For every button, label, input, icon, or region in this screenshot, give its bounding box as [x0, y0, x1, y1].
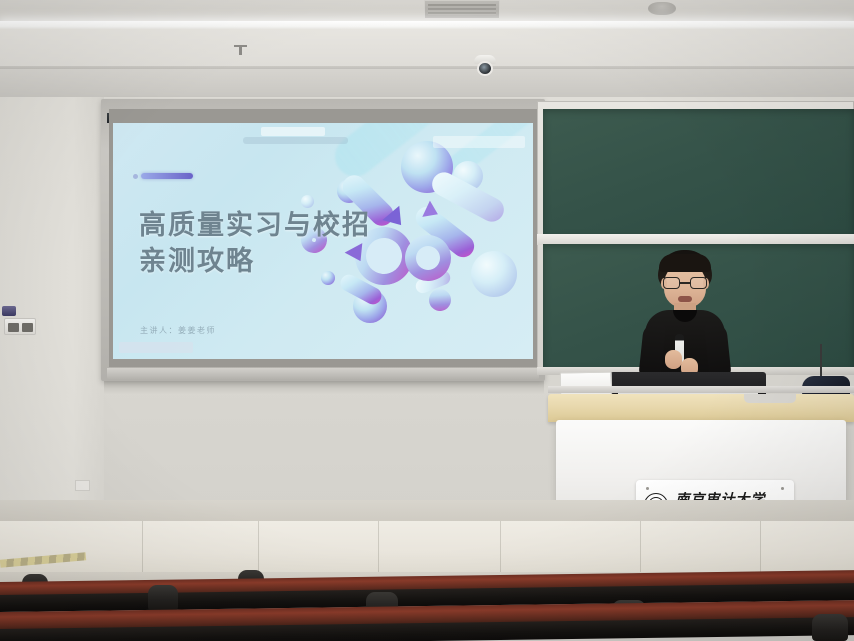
- screen-bottom-rail: [107, 368, 539, 379]
- slide-top-right-badge: [433, 136, 525, 148]
- slide-title-line-2: 亲测攻略: [139, 243, 429, 279]
- glasses-lens: [663, 277, 680, 289]
- wall-switch-icon: [2, 306, 16, 316]
- tile-seam: [378, 521, 379, 579]
- tile-seam: [142, 521, 143, 579]
- tile-seam: [500, 521, 501, 579]
- gooseneck-mic-icon: [820, 344, 822, 378]
- screen-shadow: [104, 380, 544, 394]
- glasses-icon: [663, 277, 707, 289]
- slide-accent-dot: [133, 174, 138, 179]
- seat-back: [148, 585, 178, 611]
- presentation-slide: 高质量实习与校招 亲测攻略 主讲人：姜姜老师: [113, 123, 533, 359]
- power-outlet-icon: [4, 318, 36, 335]
- speaker-hand-left: [665, 350, 682, 369]
- wall-plate: [75, 480, 90, 491]
- plaque-screw: [646, 487, 649, 490]
- camera-lens: [477, 61, 493, 76]
- tile-seam: [760, 521, 761, 579]
- air-vent-panel: [424, 0, 500, 19]
- lecture-hall-photo: 高质量实习与校招 亲测攻略 主讲人：姜姜老师: [0, 0, 854, 641]
- podium-worktop: [548, 394, 854, 422]
- ceiling-bracket-icon: [234, 45, 247, 55]
- stage-floor: [0, 521, 854, 579]
- glasses-lens: [690, 277, 707, 289]
- podium-notch: [744, 394, 796, 403]
- slide-accent-bar: [141, 173, 193, 179]
- speaker-person: [633, 250, 737, 384]
- plaque-screw: [781, 487, 784, 490]
- blackboard-panel-upper: [543, 109, 854, 236]
- slide-top-chip: [261, 127, 325, 136]
- ceiling-soffit: [0, 29, 854, 69]
- glasses-bridge: [680, 282, 690, 284]
- outlet-socket: [8, 323, 19, 332]
- slide-title-line-1: 高质量实习与校招: [139, 207, 429, 243]
- dome-security-camera-icon: [472, 55, 498, 77]
- speaker-mouth: [678, 296, 692, 302]
- slide-footer-badge: [119, 342, 193, 353]
- slide-subtitle: 主讲人：姜姜老师: [140, 325, 216, 336]
- ceiling-speaker-icon: [648, 2, 676, 15]
- ceiling-lower-surface: [0, 69, 854, 97]
- speaker-fringe: [659, 254, 711, 272]
- outlet-socket: [22, 323, 33, 332]
- seat-back: [812, 614, 848, 641]
- projection-screen: 高质量实习与校招 亲测攻略 主讲人：姜姜老师: [101, 99, 545, 381]
- decor-sphere: [471, 251, 517, 297]
- podium-rail: [548, 386, 854, 393]
- slide-top-label: [243, 137, 348, 144]
- slide-title: 高质量实习与校招 亲测攻略: [139, 207, 429, 279]
- tile-seam: [640, 521, 641, 579]
